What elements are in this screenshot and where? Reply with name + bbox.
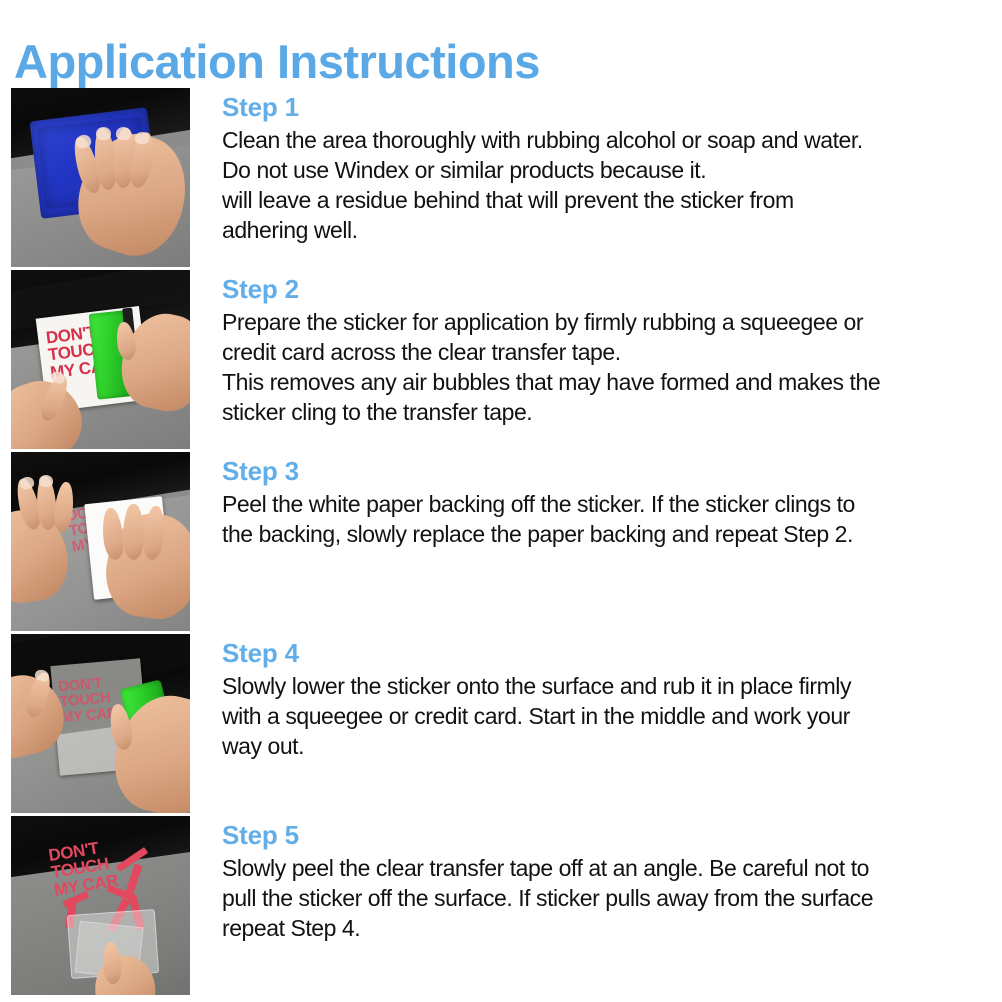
step-4-text: Step 4 Slowly lower the sticker onto the… <box>222 638 994 761</box>
steps-list: Step 1 Clean the area thoroughly with ru… <box>0 88 1002 998</box>
step-1-heading: Step 1 <box>222 92 994 122</box>
step-2-photo: DON'TTOUCHMY CAR <box>11 270 190 449</box>
step-4-photo: DON'TTOUCHMY CAR <box>11 634 190 813</box>
step-1-body: Clean the area thoroughly with rubbing a… <box>222 125 994 245</box>
application-instructions-page: Application Instructions <box>0 0 1002 1002</box>
step-3-body: Peel the white paper backing off the sti… <box>222 489 994 549</box>
page-title: Application Instructions <box>14 33 540 91</box>
step-row: DON'TTOUCHMY CAR Step 4 Slowly lower the… <box>0 634 1002 816</box>
step-5-photo: DON'TTOUCHMY CAR <box>11 816 190 995</box>
step-row: DON'TTOUCHMY CAR <box>0 452 1002 634</box>
step-2-text: Step 2 Prepare the sticker for applicati… <box>222 274 994 427</box>
step-row: DON'TTOUCHMY CAR <box>0 816 1002 998</box>
step-row: DON'TTOUCHMY CAR Step 2 Prepare the stic <box>0 270 1002 452</box>
step-4-body: Slowly lower the sticker onto the surfac… <box>222 671 994 761</box>
step-2-body: Prepare the sticker for application by f… <box>222 307 994 427</box>
step-3-text: Step 3 Peel the white paper backing off … <box>222 456 994 549</box>
step-5-text: Step 5 Slowly peel the clear transfer ta… <box>222 820 994 943</box>
step-1-text: Step 1 Clean the area thoroughly with ru… <box>222 92 994 245</box>
step-3-photo: DON'TTOUCHMY CAR <box>11 452 190 631</box>
step-4-heading: Step 4 <box>222 638 994 668</box>
step-5-heading: Step 5 <box>222 820 994 850</box>
step-row: Step 1 Clean the area thoroughly with ru… <box>0 88 1002 270</box>
step-5-body: Slowly peel the clear transfer tape off … <box>222 853 994 943</box>
step-1-photo <box>11 88 190 267</box>
step-2-heading: Step 2 <box>222 274 994 304</box>
step-3-heading: Step 3 <box>222 456 994 486</box>
